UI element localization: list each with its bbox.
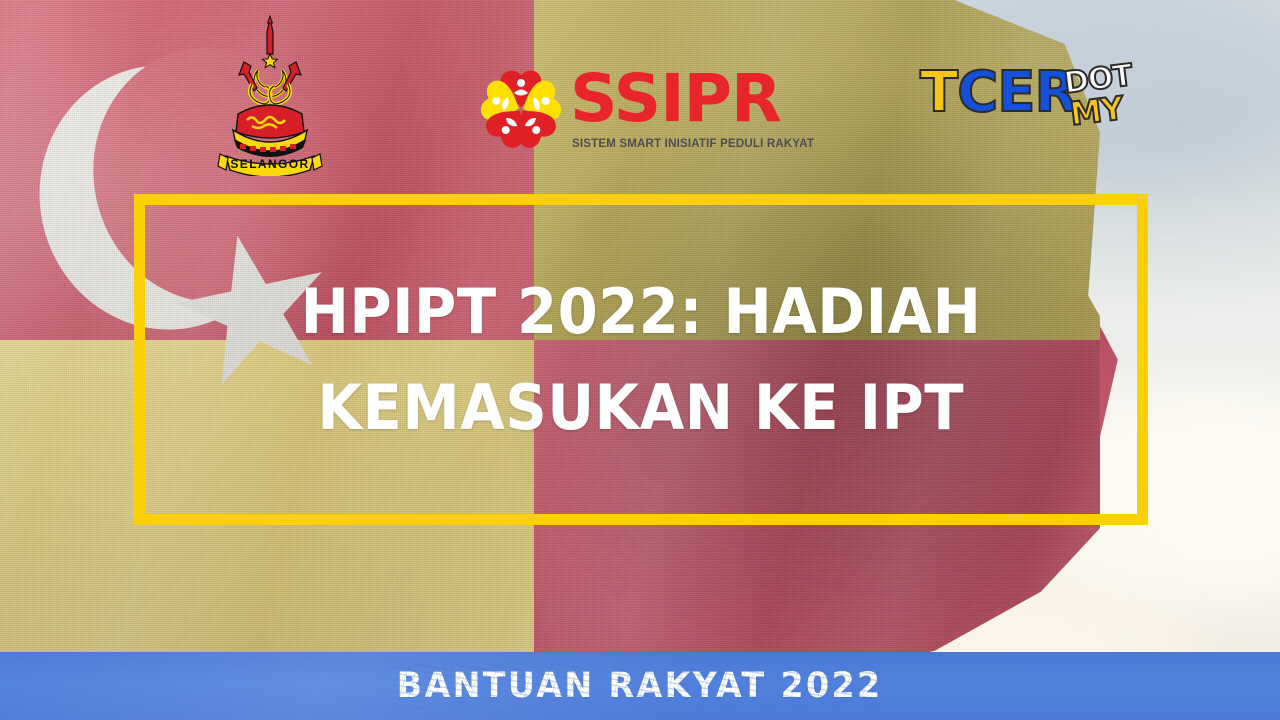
crest-icon: SELANGOR	[214, 14, 326, 176]
selangor-crest-logo: SELANGOR	[214, 14, 326, 176]
headline-line-1: HPIPT 2022: HADIAH	[301, 264, 982, 360]
ssipr-flower-icon	[478, 66, 564, 152]
ssipr-wordmark: SSIPR	[570, 62, 781, 136]
banner-label: BANTUAN RAKYAT 2022	[397, 666, 883, 706]
headline-line-2: KEMASUKAN KE IPT	[318, 360, 965, 456]
bottom-banner: BANTUAN RAKYAT 2022	[0, 652, 1280, 720]
tcer-wordmark: TCER	[920, 62, 1077, 124]
ssipr-tagline: SISTEM SMART INISIATIF PEDULI RAKYAT	[572, 138, 814, 150]
tcer-letters-cer: CER	[957, 60, 1076, 125]
ssipr-logo: SSIPR SISTEM SMART INISIATIF PEDULI RAKY…	[478, 62, 808, 158]
tcer-letter-t: T	[920, 60, 957, 125]
poster-headline: HPIPT 2022: HADIAH KEMASUKAN KE IPT	[134, 194, 1148, 525]
poster-canvas: SELANGOR	[0, 0, 1280, 720]
tcer-dot-my-logo: TCER DOT MY	[920, 62, 1160, 142]
tcer-my-label: MY	[1068, 89, 1125, 133]
crest-ribbon-label: SELANGOR	[230, 157, 309, 171]
